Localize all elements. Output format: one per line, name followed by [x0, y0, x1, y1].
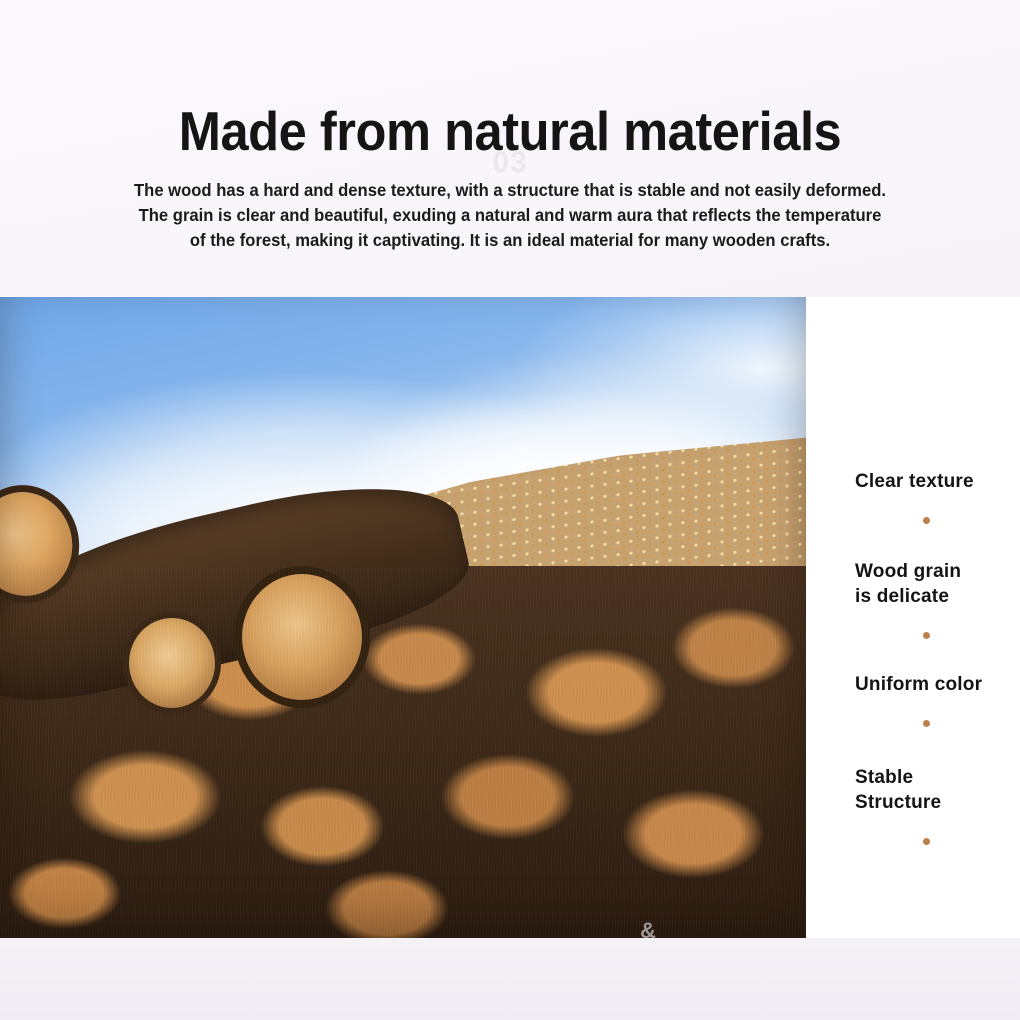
page-description: The wood has a hard and dense texture, w… — [73, 178, 947, 253]
page-description-line-1: The wood has a hard and dense texture, w… — [73, 178, 947, 203]
feature-label-line: Structure — [855, 790, 1020, 815]
feature-item-clear-texture: Clear texture — [855, 469, 1020, 494]
feature-item-wood-grain: Wood grain is delicate — [855, 559, 1020, 609]
feature-list-panel: Clear texture Wood grain is delicate Uni… — [806, 297, 1020, 938]
feature-label: Uniform color — [855, 672, 1020, 697]
feature-label-line: is delicate — [855, 584, 1020, 609]
foreground-log-stack — [0, 566, 806, 938]
feature-label-line: Clear texture — [855, 469, 1020, 494]
feature-item-uniform-color: Uniform color — [855, 672, 1020, 697]
bullet-dot-icon — [923, 838, 930, 845]
feature-label-line: Uniform color — [855, 672, 1020, 697]
bullet-dot-icon — [923, 517, 930, 524]
bullet-dot-icon — [923, 720, 930, 727]
page-description-line-2: The grain is clear and beautiful, exudin… — [73, 203, 947, 228]
feature-label-line: Stable — [855, 765, 1020, 790]
page-description-line-3: of the forest, making it captivating. It… — [73, 228, 947, 253]
feature-label-line: Wood grain — [855, 559, 1020, 584]
feature-label: Clear texture — [855, 469, 1020, 494]
footer-band — [0, 938, 1020, 1020]
feature-item-stable-structure: Stable Structure — [855, 765, 1020, 815]
promo-page: 03 Made from natural materials The wood … — [0, 0, 1020, 1020]
wood-grain-texture — [0, 566, 806, 938]
bullet-dot-icon — [923, 632, 930, 639]
feature-label: Stable Structure — [855, 765, 1020, 815]
page-title: Made from natural materials — [41, 100, 979, 162]
timber-stack-photo — [0, 297, 806, 938]
header-band: 03 Made from natural materials The wood … — [0, 0, 1020, 297]
feature-label: Wood grain is delicate — [855, 559, 1020, 609]
